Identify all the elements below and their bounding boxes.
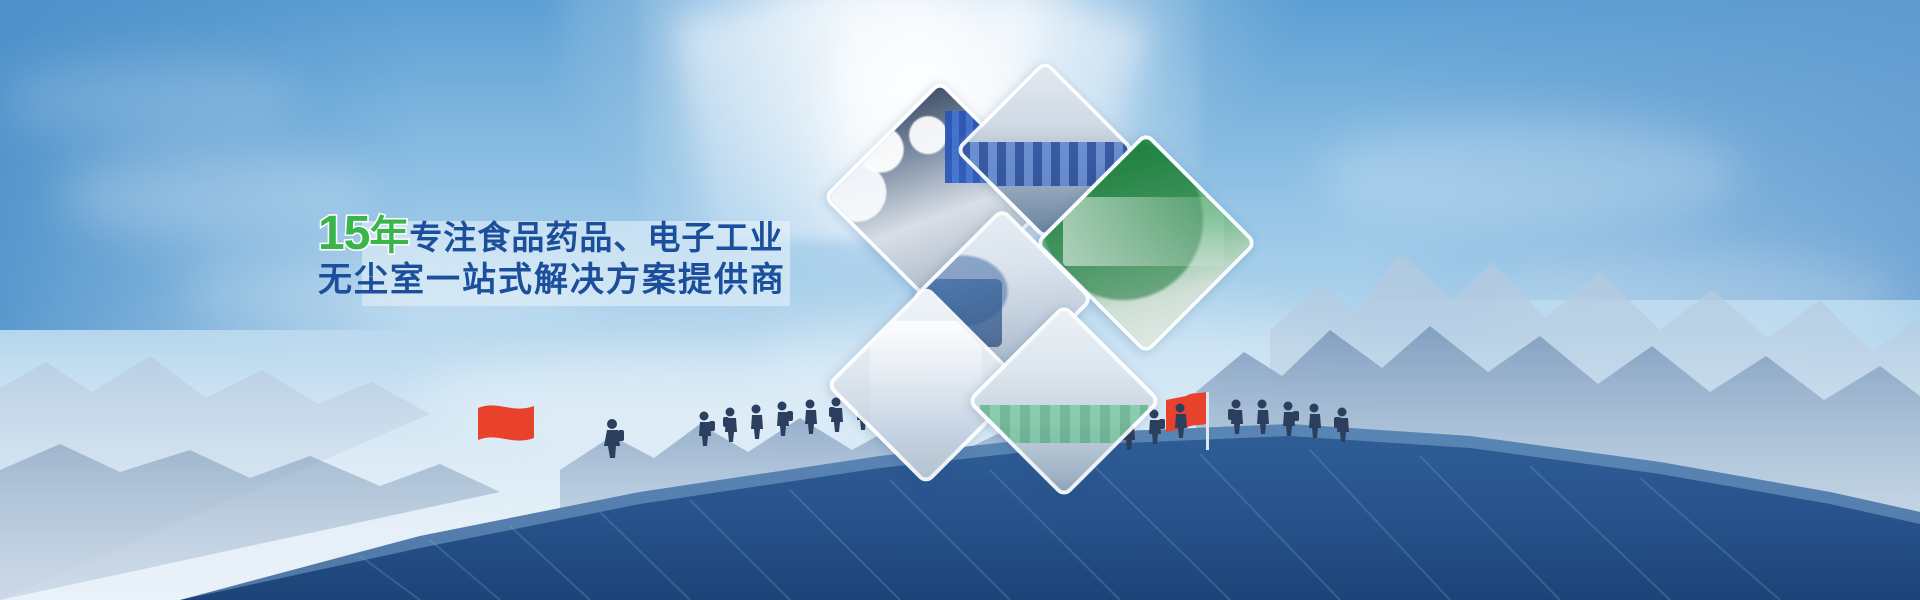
headline-line-1: 15 年 专注食品药品、电子工业 <box>318 210 838 258</box>
hiker-solo <box>604 419 624 458</box>
diamond-photo-collage <box>845 92 1275 464</box>
headline-line-2: 无尘室一站式解决方案提供商 <box>318 262 838 299</box>
headline-block: 15 年 专注食品药品、电子工业 无尘室一站式解决方案提供商 <box>318 200 838 310</box>
left-flag-icon <box>478 404 534 460</box>
years-number: 15 <box>318 210 369 258</box>
headline-line-1-text: 专注食品药品、电子工业 <box>409 220 783 256</box>
banner-stage: 15 年 专注食品药品、电子工业 无尘室一站式解决方案提供商 <box>0 0 1920 600</box>
headline-line-2-text: 无尘室一站式解决方案提供商 <box>318 261 786 299</box>
years-unit-label: 年 <box>369 216 409 256</box>
